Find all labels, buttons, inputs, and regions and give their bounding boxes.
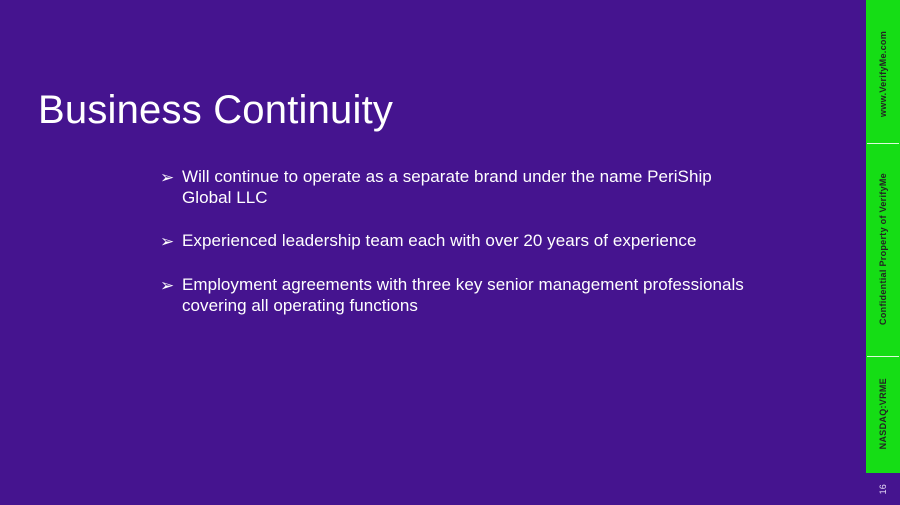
sidebar-divider (867, 143, 899, 144)
slide-number-plate: 16 (866, 473, 900, 505)
list-item-label: Will continue to operate as a separate b… (182, 166, 760, 208)
bullet-list: ➢ Will continue to operate as a separate… (160, 166, 760, 316)
arrowhead-bullet-icon: ➢ (160, 274, 182, 296)
list-item: ➢ Experienced leadership team each with … (160, 230, 760, 252)
slide-canvas: Business Continuity ➢ Will continue to o… (0, 0, 900, 505)
sidebar-website-label: www.VerifyMe.com (878, 31, 888, 117)
sidebar-ticker-block: NASDAQ:VRME (866, 359, 900, 469)
list-item: ➢ Will continue to operate as a separate… (160, 166, 760, 208)
list-item: ➢ Employment agreements with three key s… (160, 274, 760, 316)
list-item-label: Employment agreements with three key sen… (182, 274, 760, 316)
slide-number: 16 (878, 484, 888, 494)
arrowhead-bullet-icon: ➢ (160, 230, 182, 252)
sidebar-ticker-label: NASDAQ:VRME (878, 378, 888, 449)
brand-sidebar: www.VerifyMe.com Confidential Property o… (866, 0, 900, 473)
sidebar-website-block: www.VerifyMe.com (866, 6, 900, 141)
arrowhead-bullet-icon: ➢ (160, 166, 182, 188)
page-title: Business Continuity (38, 89, 393, 132)
sidebar-divider (867, 356, 899, 357)
sidebar-confidentiality-label: Confidential Property of VerifyMe (878, 173, 888, 325)
list-item-label: Experienced leadership team each with ov… (182, 230, 760, 251)
sidebar-confidentiality-block: Confidential Property of VerifyMe (866, 146, 900, 351)
